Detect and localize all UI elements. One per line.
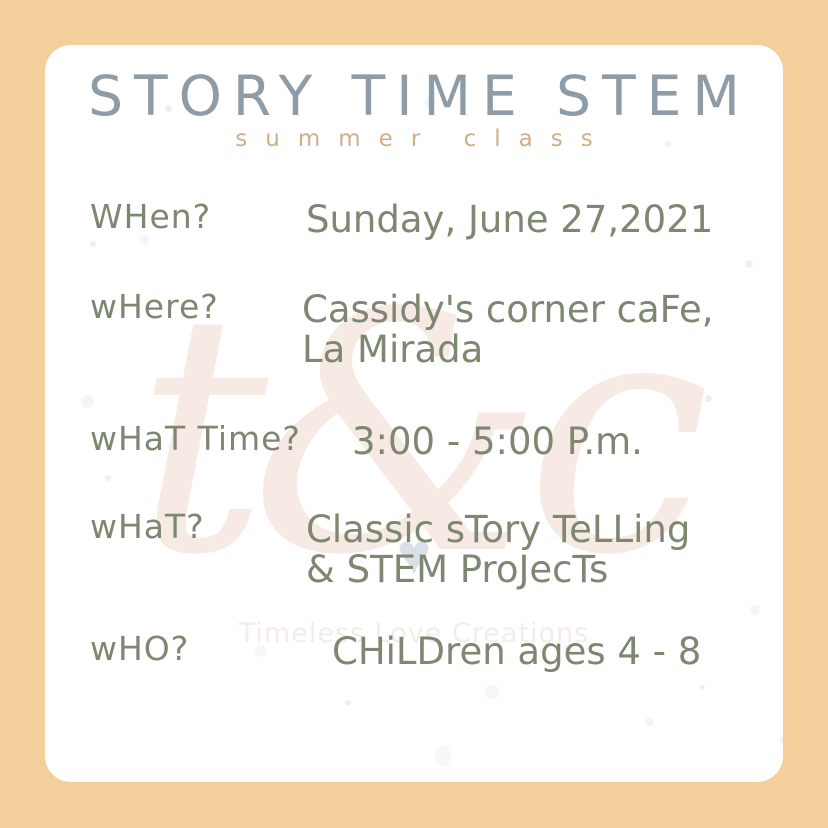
detail-row-what: wHaT? Classic sTory TeLLing & STEM ProJe… (45, 510, 783, 590)
detail-label-where: wHere? (90, 290, 302, 324)
detail-label-who: wHO? (90, 632, 302, 666)
details-list: WHen? Sunday, June 27,2021 wHere? Cassid… (45, 200, 783, 672)
page-title: STORY TIME STEM (45, 69, 783, 124)
detail-row-who: wHO? CHiLDren ages 4 - 8 (45, 632, 783, 672)
card-content: STORY TIME STEM summer class WHen? Sunda… (45, 45, 783, 782)
detail-row-time: wHaT Time? 3:00 - 5:00 P.m. (45, 422, 783, 462)
detail-label-time: wHaT Time? (90, 422, 326, 456)
detail-value-when: Sunday, June 27,2021 (302, 200, 763, 240)
detail-value-time: 3:00 - 5:00 P.m. (326, 422, 763, 462)
flyer-card: t&c ♥ Timeless Love Creations STORY TIME… (45, 45, 783, 782)
flyer-poster: t&c ♥ Timeless Love Creations STORY TIME… (0, 0, 828, 828)
detail-label-when: WHen? (90, 200, 302, 234)
detail-value-what: Classic sTory TeLLing & STEM ProJecTs (302, 510, 763, 590)
detail-value-who: CHiLDren ages 4 - 8 (302, 632, 763, 672)
detail-row-where: wHere? Cassidy's corner caFe, La Mirada (45, 290, 783, 370)
detail-row-when: WHen? Sunday, June 27,2021 (45, 200, 783, 240)
page-subtitle: summer class (45, 128, 783, 151)
detail-label-what: wHaT? (90, 510, 302, 544)
detail-value-where: Cassidy's corner caFe, La Mirada (302, 290, 763, 370)
header-block: STORY TIME STEM summer class (45, 69, 783, 151)
